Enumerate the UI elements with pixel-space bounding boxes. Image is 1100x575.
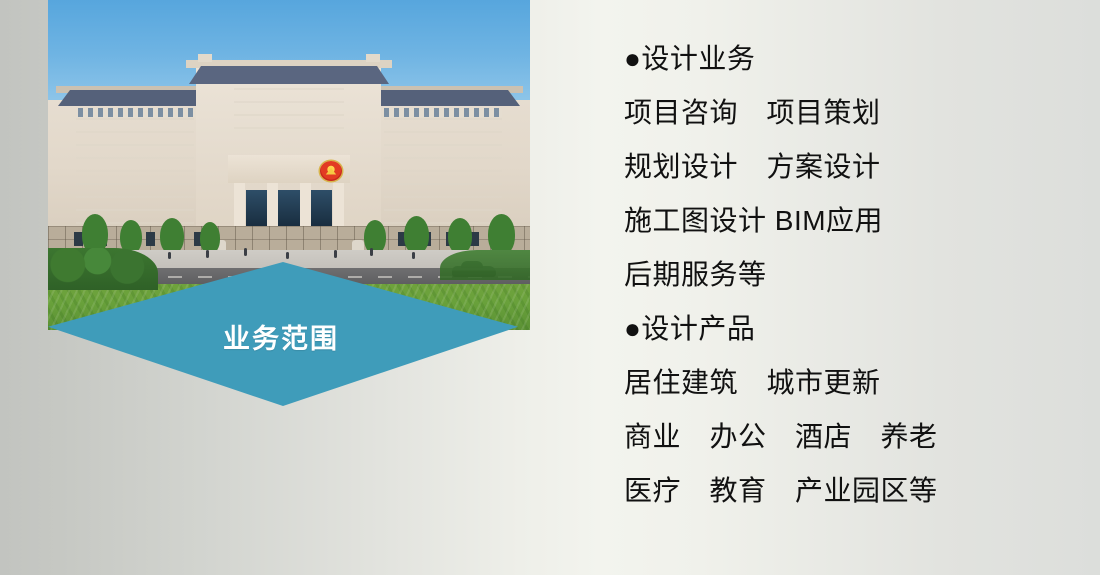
content-line-medical-education: 医疗 教育 产业园区等 [624,464,1044,518]
tree [488,214,515,255]
content-line-design-products-heading: ●设计产品 [624,302,1044,356]
tower-glass [234,88,344,140]
pedestrian [244,248,247,256]
glass-curtain-right [384,118,502,230]
tower-roof [189,66,389,84]
content-line-construction-bim: 施工图设计 BIM应用 [624,194,1044,248]
tree [364,220,386,254]
slide-canvas: 业务范围 ●设计业务 项目咨询 项目策划 规划设计 方案设计 施工图设计 BIM… [0,0,1100,575]
content-text-column: ●设计业务 项目咨询 项目策划 规划设计 方案设计 施工图设计 BIM应用 后期… [624,32,1044,518]
content-line-consulting-planning: 项目咨询 项目策划 [624,86,1044,140]
basement-windows-right [374,232,504,246]
tree [404,216,429,254]
tree [448,218,472,254]
pedestrian [206,250,209,258]
window-grille-right [384,108,502,117]
hedge-left [48,248,158,290]
content-line-planning-scheme-design: 规划设计 方案设计 [624,140,1044,194]
tower-finial-right [366,54,380,62]
section-badge-label: 业务范围 [223,326,339,353]
window-grille-left [78,108,196,117]
pedestrian [412,252,415,259]
hedge-right [440,250,530,280]
tree [160,218,184,254]
pedestrian [334,250,337,258]
content-line-residential-urban: 居住建筑 城市更新 [624,356,1044,410]
roof-left [58,90,208,106]
pedestrian [286,252,289,259]
content-line-design-services-heading: ●设计业务 [624,32,1044,86]
national-emblem-icon [320,161,342,181]
pedestrian [168,252,171,259]
content-line-post-service: 后期服务等 [624,248,1044,302]
pedestrian [370,248,373,256]
roof-right [370,90,520,106]
content-line-commercial-office: 商业 办公 酒店 养老 [624,410,1044,464]
tower-finial-left [198,54,212,62]
